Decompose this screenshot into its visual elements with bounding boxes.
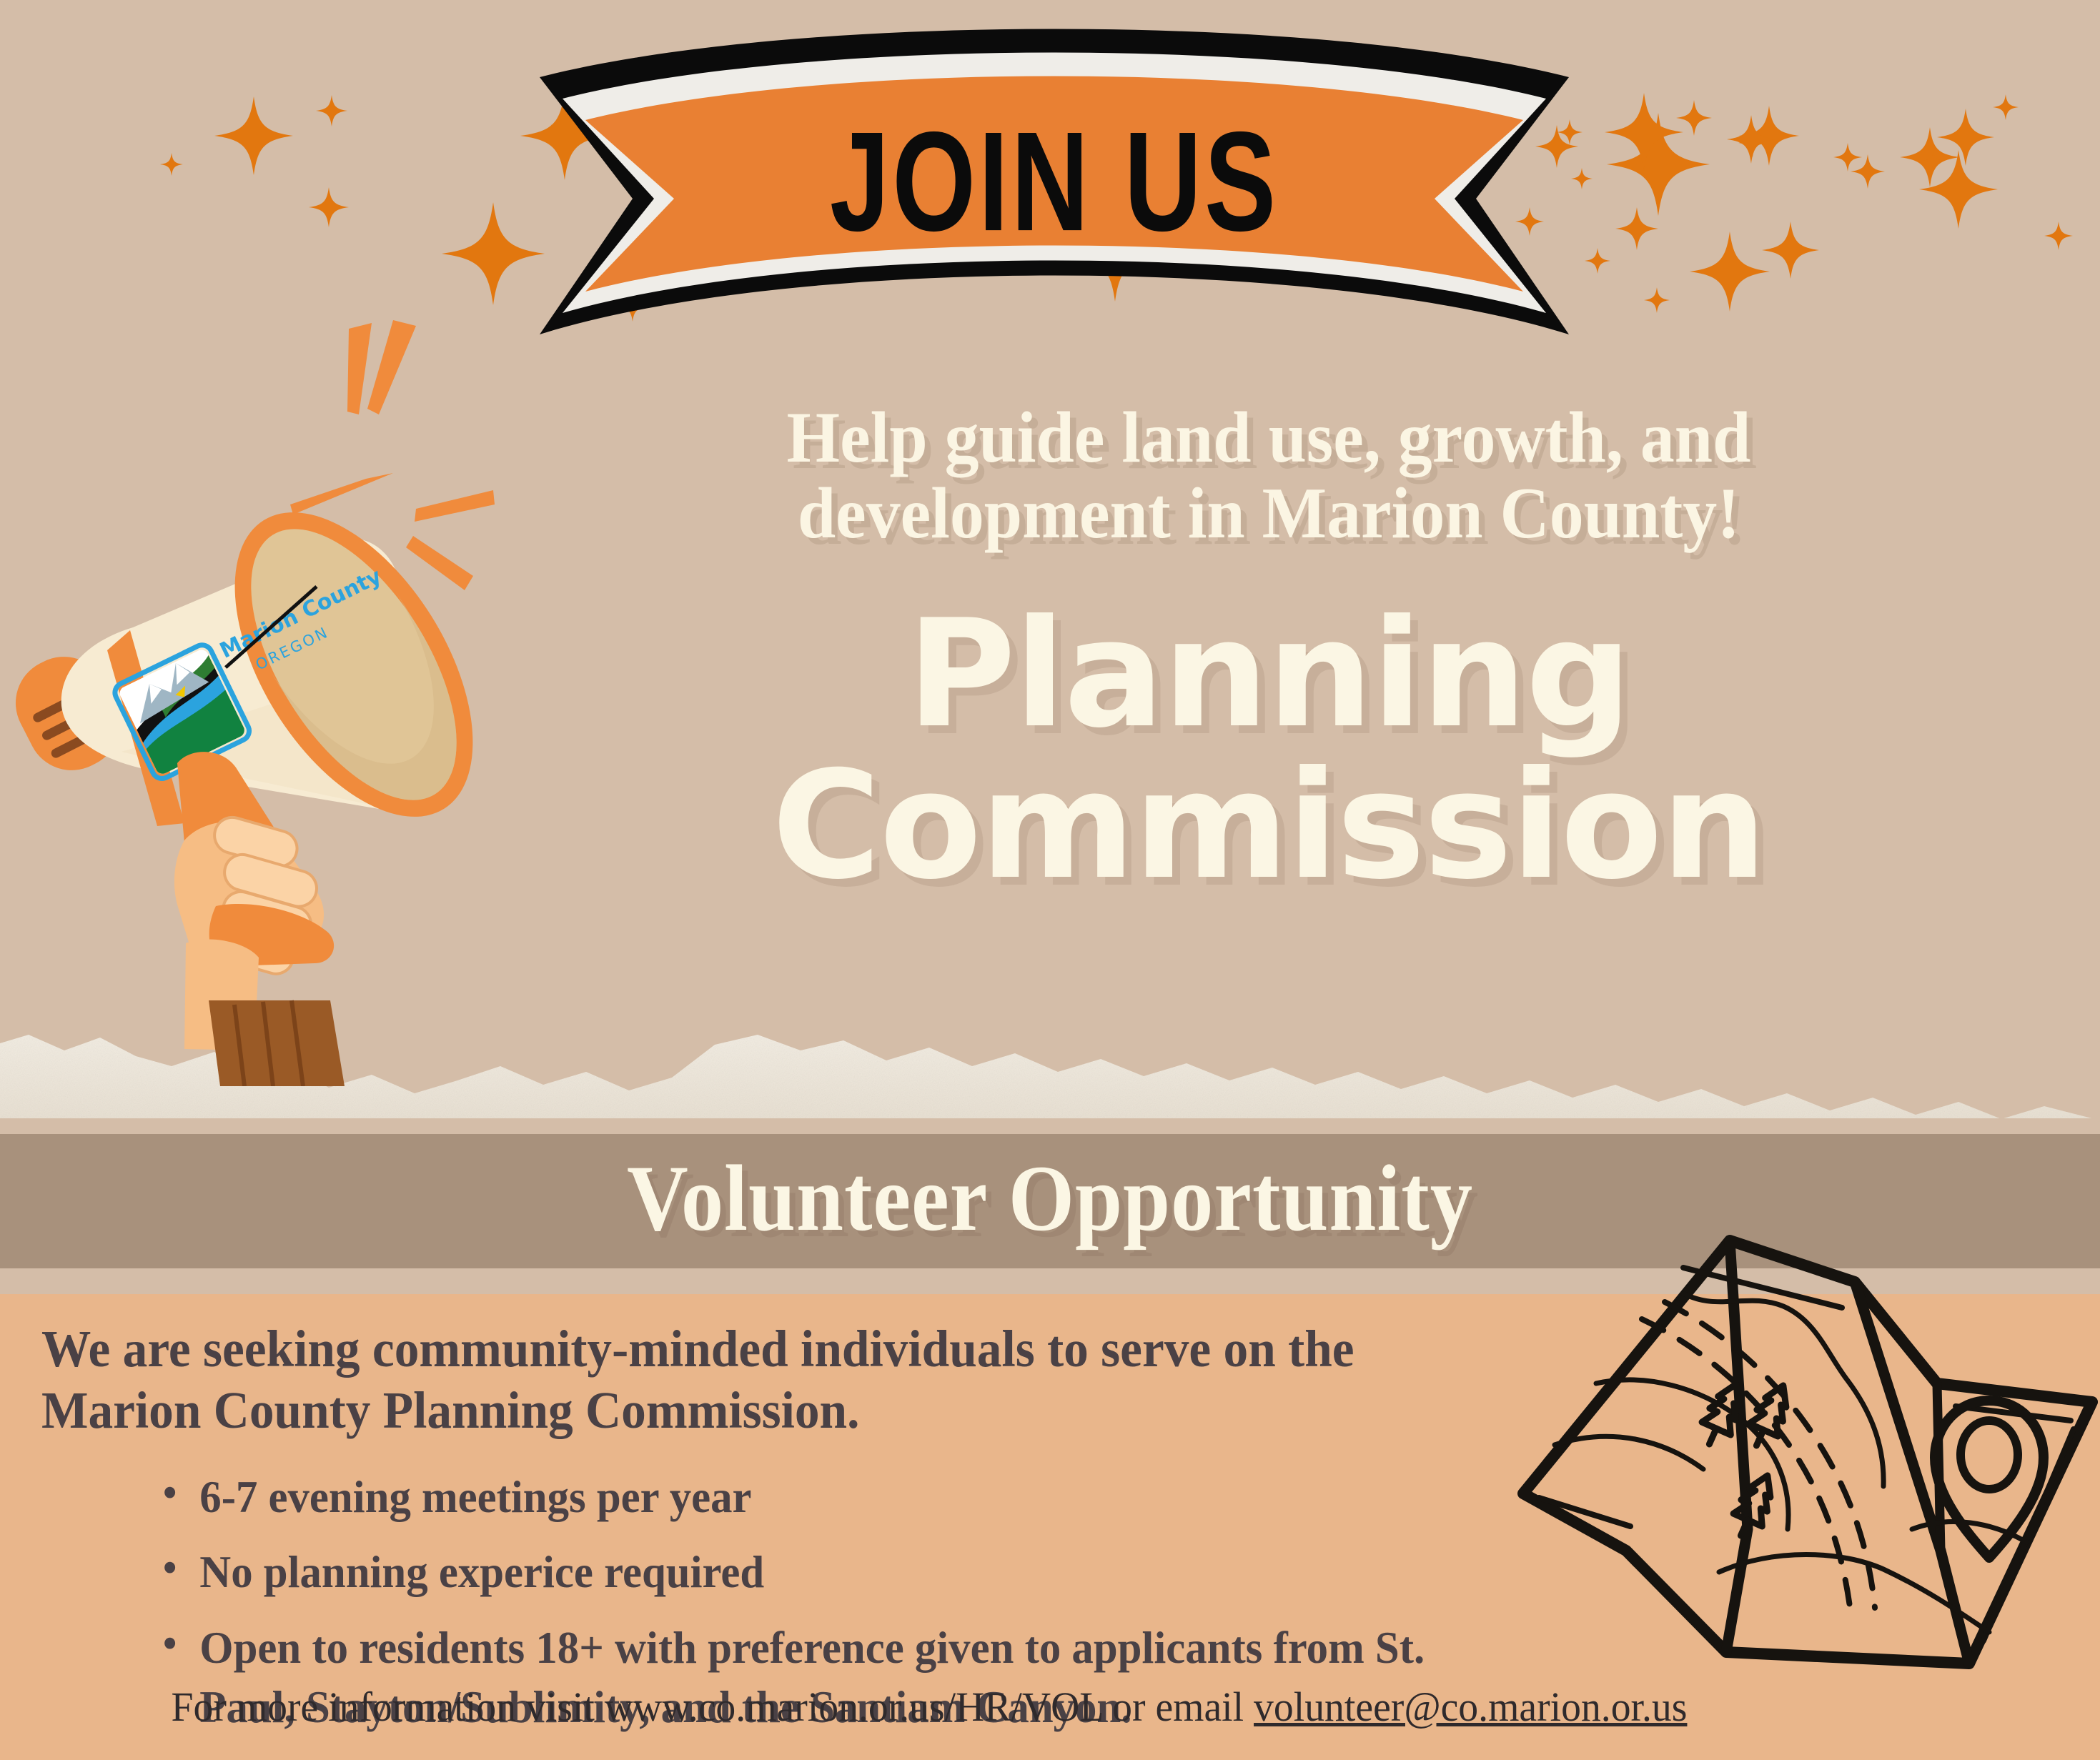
folded-map-icon (1512, 1215, 2100, 1672)
footer-email-link[interactable]: volunteer@co.marion.or.us (1254, 1684, 1687, 1730)
page-title-line-1: Planning (500, 599, 2037, 750)
headline-line-1: Help guide land use, growth, and (547, 400, 1991, 476)
footer-prefix: For more information visit (172, 1684, 605, 1730)
footer-middle: or email (1102, 1684, 1254, 1730)
body-lead-line-1: We are seeking community-minded individu… (41, 1318, 1440, 1380)
list-item: 6-7 evening meetings per year (163, 1467, 1447, 1526)
background-strip-upper (0, 1118, 2100, 1134)
page-title: Planning Commission (500, 599, 2037, 902)
poster-canvas: JOIN US (0, 0, 2100, 1760)
headline-line-2: development in Marion County! (547, 476, 1991, 552)
join-us-label: JOIN US (525, 100, 1583, 263)
page-title-line-2: Commission (500, 750, 2037, 902)
footer-url[interactable]: www.co.marion.or.us/HR/VOL (605, 1684, 1102, 1730)
list-item: No planning experice required (163, 1542, 1447, 1601)
body-lead-line-2: Marion County Planning Commission. (41, 1380, 1440, 1441)
footer-contact: For more information visit www.co.marion… (37, 1683, 1821, 1731)
headline: Help guide land use, growth, and develop… (547, 400, 1991, 552)
join-us-banner: JOIN US (525, 20, 1583, 370)
